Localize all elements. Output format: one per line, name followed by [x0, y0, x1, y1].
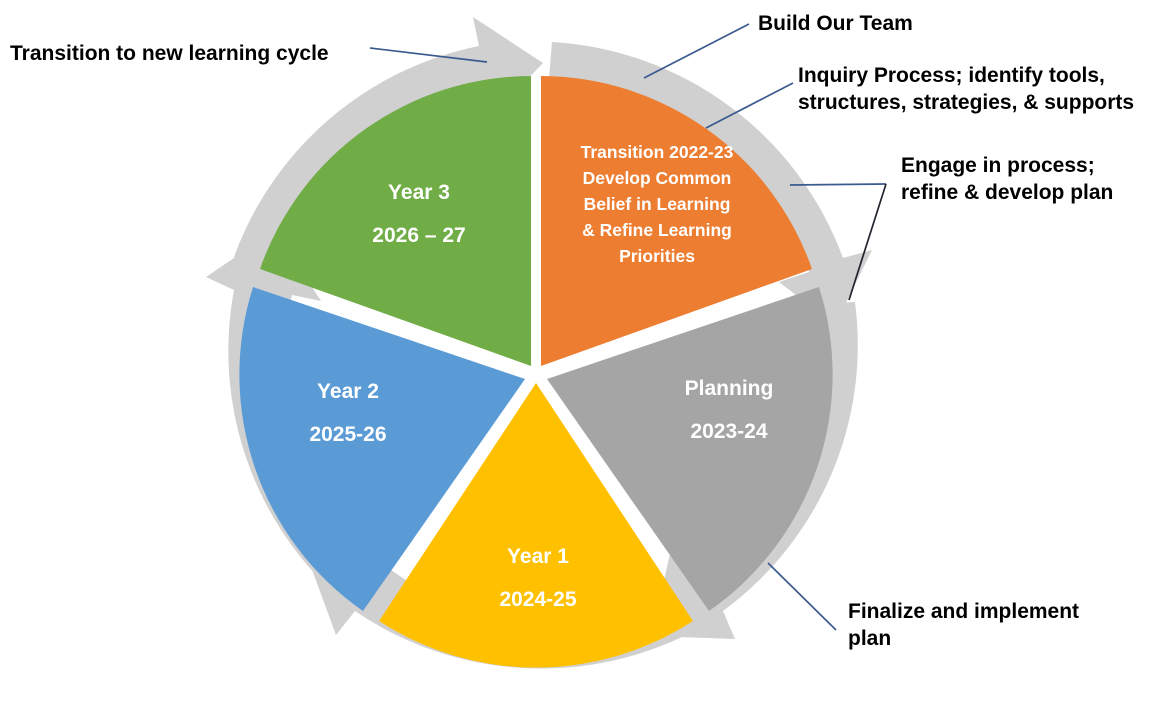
segment-orange-label-line-3: Belief in Learning: [584, 194, 731, 214]
segment-orange-label-line-4: & Refine Learning: [582, 220, 732, 240]
leader-line-build-our-team: [644, 24, 749, 78]
segment-orange-label-line-2: Develop Common: [583, 168, 732, 188]
annotation-engage-in-process: Engage in process; refine & develop plan: [901, 152, 1113, 207]
segment-orange-label-line-5: Priorities: [619, 246, 695, 266]
segment-blue-subtitle: 2025-26: [309, 423, 386, 446]
pie-segments: [239, 76, 832, 668]
annotation-inquiry-process: Inquiry Process; identify tools, structu…: [798, 62, 1134, 117]
segment-yellow-subtitle: 2024-25: [499, 588, 576, 611]
annotation-build-our-team: Build Our Team: [758, 10, 913, 37]
segment-blue-title: Year 2: [317, 380, 379, 403]
segment-grey-title: Planning: [685, 377, 774, 400]
segment-green-title: Year 3: [388, 181, 450, 204]
leader-line-engage-in-process-hook: [849, 184, 886, 300]
leader-line-finalize-and-implement-plan: [768, 563, 836, 630]
segment-grey-subtitle: 2023-24: [690, 420, 767, 443]
segment-green-subtitle: 2026 – 27: [372, 224, 465, 247]
diagram-canvas: Transition 2022-23 Develop Common Belief…: [0, 0, 1176, 720]
segment-orange-label-line-1: Transition 2022-23: [581, 142, 734, 162]
annotation-finalize-and-implement-plan: Finalize and implement plan: [848, 598, 1079, 653]
leader-line-engage-in-process: [790, 184, 886, 185]
segment-yellow-title: Year 1: [507, 545, 569, 568]
annotation-transition-to-new-learning-cycle: Transition to new learning cycle: [10, 40, 329, 67]
